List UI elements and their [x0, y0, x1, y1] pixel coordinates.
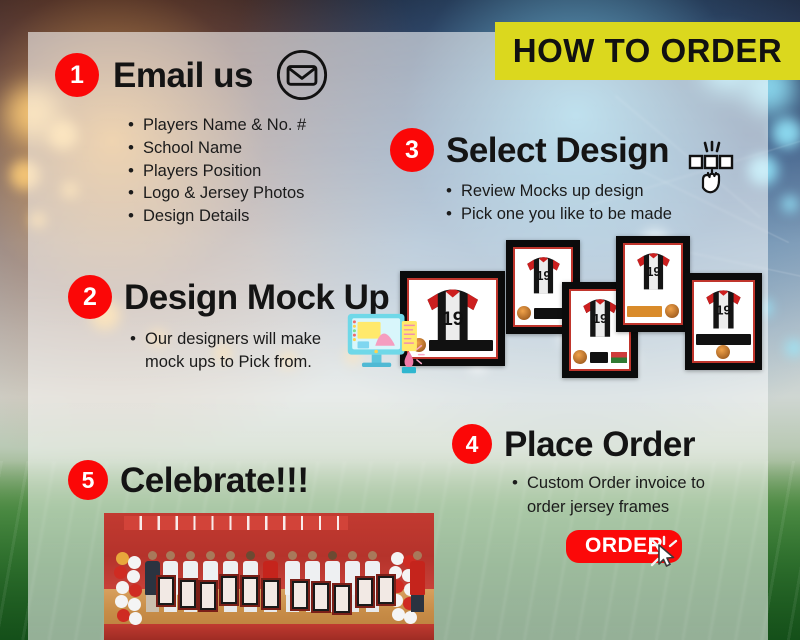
step-3-heading-row: 3 Select Design [390, 128, 672, 172]
list-item: Logo & Jersey Photos [128, 182, 329, 205]
step-1-bullet-list: Players Name & No. # School Name Players… [128, 114, 329, 228]
nameplate [696, 334, 750, 345]
team-photo-inset [611, 352, 627, 363]
list-item: Review Mocks up design [446, 180, 672, 203]
step-3-number-badge: 3 [390, 128, 434, 172]
step-5-celebrate: 5 Celebrate!!! [68, 460, 308, 500]
nameplate [627, 306, 662, 317]
svg-text:19: 19 [536, 269, 550, 283]
svg-text:19: 19 [593, 311, 607, 326]
step-2-design-mock-up: 2 Design Mock Up Our designers will make… [68, 275, 389, 375]
balloon-column [114, 550, 144, 622]
envelope-icon [275, 48, 329, 102]
jersey-frame: 19 [685, 273, 762, 370]
held-jersey-frame [156, 575, 176, 607]
list-item: Design Details [128, 205, 329, 228]
step-4-title: Place Order [504, 427, 695, 462]
held-jersey-frame [261, 578, 281, 610]
hand-select-icon [688, 140, 736, 198]
jersey-graphic: 19 [581, 297, 619, 339]
team-logo-icon [716, 345, 730, 359]
step-4-bullet-list: Custom Order invoice to order jersey fra… [512, 472, 712, 520]
frame-logo-row [696, 345, 750, 359]
design-monitor-illustration [345, 305, 425, 383]
held-jersey-frame [376, 574, 396, 606]
jersey-frame: 19 [616, 236, 690, 332]
click-cursor-icon [645, 534, 681, 570]
team-logo-icon [517, 306, 531, 320]
svg-text:19: 19 [646, 265, 660, 279]
held-jersey-frame [311, 581, 331, 613]
team-photo [104, 513, 434, 640]
step-5-number-badge: 5 [68, 460, 108, 500]
list-item: Players Name & No. # [128, 114, 329, 137]
step-3-select-design: 3 Select Design Review Mocks up design P… [390, 128, 672, 226]
step-2-number-badge: 2 [68, 275, 112, 319]
step-4-place-order: 4 Place Order Custom Order invoice to or… [452, 424, 712, 520]
step-2-heading-row: 2 Design Mock Up [68, 275, 389, 319]
page-title: HOW TO ORDER [513, 32, 782, 70]
step-1-number-badge: 1 [55, 53, 99, 97]
held-jersey-frame [332, 583, 352, 615]
step-3-bullet-list: Review Mocks up design Pick one you like… [446, 180, 672, 226]
header-banner: HOW TO ORDER [495, 22, 800, 80]
frame-plaque [627, 304, 679, 318]
step-4-number-badge: 4 [452, 424, 492, 464]
list-item: Our designers will make mock ups to Pick… [130, 328, 345, 375]
nameplate [590, 352, 607, 363]
list-item: Custom Order invoice to order jersey fra… [512, 472, 712, 520]
infographic-canvas: HOW TO ORDER 1 Email us Players Name & N… [0, 0, 800, 640]
step-5-title: Celebrate!!! [120, 463, 308, 498]
list-item: Players Position [128, 160, 329, 183]
gym-banner [124, 516, 348, 530]
step-5-heading-row: 5 Celebrate!!! [68, 460, 308, 500]
svg-text:19: 19 [716, 302, 731, 317]
person [409, 551, 426, 612]
held-jersey-frame [178, 578, 198, 610]
jersey-graphic: 19 [704, 288, 743, 331]
held-jersey-frame [198, 580, 218, 612]
jersey-graphic: 19 [635, 251, 672, 292]
held-jersey-frame [219, 574, 239, 606]
jersey-frames-photo: 19 19 [455, 228, 785, 378]
held-jersey-frame [355, 576, 375, 608]
frame-plaque [696, 334, 750, 345]
step-1-email-us: 1 Email us Players Name & No. # School N… [55, 48, 329, 228]
list-item: School Name [128, 137, 329, 160]
list-item: Pick one you like to be made [446, 203, 672, 226]
held-jersey-frame [290, 579, 310, 611]
frame-plaque [573, 350, 626, 364]
gym-floor-stripe [104, 624, 434, 640]
team-logo-icon [573, 350, 587, 364]
svg-text:19: 19 [442, 308, 464, 330]
step-1-heading-row: 1 Email us [55, 48, 329, 102]
step-1-title: Email us [113, 58, 253, 93]
jersey-graphic: 19 [525, 255, 562, 296]
step-3-title: Select Design [446, 133, 669, 168]
team-logo-icon [665, 304, 679, 318]
nameplate [429, 340, 492, 351]
held-jersey-frame [240, 575, 260, 607]
step-4-heading-row: 4 Place Order [452, 424, 712, 464]
